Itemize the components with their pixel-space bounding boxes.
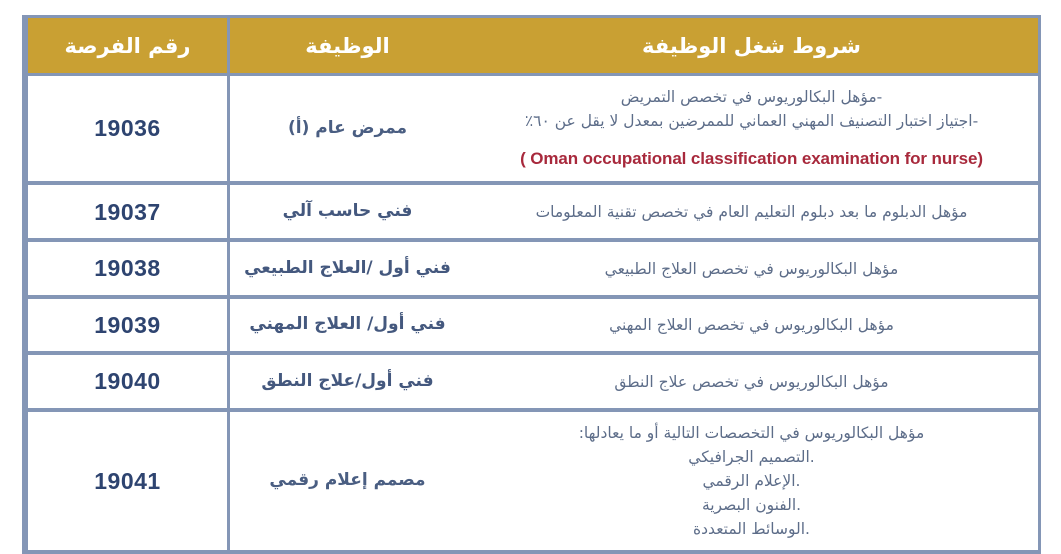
cell-opportunity-number: 19036 — [25, 76, 227, 185]
table-row: مؤهل الدبلوم ما بعد دبلوم التعليم العام … — [25, 185, 1038, 242]
table-row: مؤهل البكالوريوس في تخصص علاج النطقفني أ… — [25, 355, 1038, 412]
table-row: -مؤهل البكالوريوس في تخصص التمريض-اجتياز… — [25, 76, 1038, 185]
table-row: مؤهل البكالوريوس في تخصص العلاج المهنيفن… — [25, 299, 1038, 356]
cell-opportunity-number: 19041 — [25, 412, 227, 550]
cell-job-title: فني أول /العلاج الطبيعي — [227, 242, 465, 299]
cell-job-title: فني أول/علاج النطق — [227, 355, 465, 412]
requirement-line: .الوسائط المتعددة — [479, 517, 1024, 541]
page-root: شروط شغل الوظيفة الوظيفة رقم الفرصة -مؤه… — [0, 0, 1061, 499]
column-header-job: الوظيفة — [227, 18, 465, 76]
requirement-line: مؤهل البكالوريوس في تخصص علاج النطق — [479, 370, 1024, 394]
requirement-line: .الفنون البصرية — [479, 493, 1024, 517]
requirement-line: مؤهل البكالوريوس في تخصص العلاج الطبيعي — [479, 257, 1024, 281]
table-header-row: شروط شغل الوظيفة الوظيفة رقم الفرصة — [25, 18, 1038, 76]
cell-job-title: ممرض عام (أ) — [227, 76, 465, 185]
requirement-line: مؤهل البكالوريوس في التخصصات التالية أو … — [479, 421, 1024, 445]
cell-job-title: مصمم إعلام رقمي — [227, 412, 465, 550]
column-header-requirements: شروط شغل الوظيفة — [465, 18, 1038, 76]
table-body: -مؤهل البكالوريوس في تخصص التمريض-اجتياز… — [25, 76, 1038, 550]
requirement-line: -مؤهل البكالوريوس في تخصص التمريض — [479, 85, 1024, 109]
requirement-line: مؤهل الدبلوم ما بعد دبلوم التعليم العام … — [479, 200, 1024, 224]
cell-requirements: مؤهل البكالوريوس في تخصص العلاج المهني — [465, 299, 1038, 356]
cell-opportunity-number: 19037 — [25, 185, 227, 242]
cell-requirements: مؤهل البكالوريوس في تخصص العلاج الطبيعي — [465, 242, 1038, 299]
requirement-line: -اجتياز اختبار التصنيف المهني العماني لل… — [479, 109, 1024, 133]
table-header: شروط شغل الوظيفة الوظيفة رقم الفرصة — [25, 18, 1038, 76]
job-opportunities-table: شروط شغل الوظيفة الوظيفة رقم الفرصة -مؤه… — [22, 15, 1041, 554]
cell-opportunity-number: 19039 — [25, 299, 227, 356]
cell-requirements: -مؤهل البكالوريوس في تخصص التمريض-اجتياز… — [465, 76, 1038, 185]
table-row: مؤهل البكالوريوس في تخصص العلاج الطبيعيف… — [25, 242, 1038, 299]
requirement-line: .التصميم الجرافيكي — [479, 445, 1024, 469]
cell-opportunity-number: 19038 — [25, 242, 227, 299]
table-row: مؤهل البكالوريوس في التخصصات التالية أو … — [25, 412, 1038, 550]
cell-requirements: مؤهل البكالوريوس في تخصص علاج النطق — [465, 355, 1038, 412]
requirement-line: .الإعلام الرقمي — [479, 469, 1024, 493]
requirement-english-note: ( Oman occupational classification exami… — [479, 146, 1024, 172]
cell-opportunity-number: 19040 — [25, 355, 227, 412]
requirement-line: مؤهل البكالوريوس في تخصص العلاج المهني — [479, 313, 1024, 337]
cell-job-title: فني حاسب آلي — [227, 185, 465, 242]
cell-requirements: مؤهل البكالوريوس في التخصصات التالية أو … — [465, 412, 1038, 550]
column-header-opportunity-number: رقم الفرصة — [25, 18, 227, 76]
cell-requirements: مؤهل الدبلوم ما بعد دبلوم التعليم العام … — [465, 185, 1038, 242]
cell-job-title: فني أول/ العلاج المهني — [227, 299, 465, 356]
